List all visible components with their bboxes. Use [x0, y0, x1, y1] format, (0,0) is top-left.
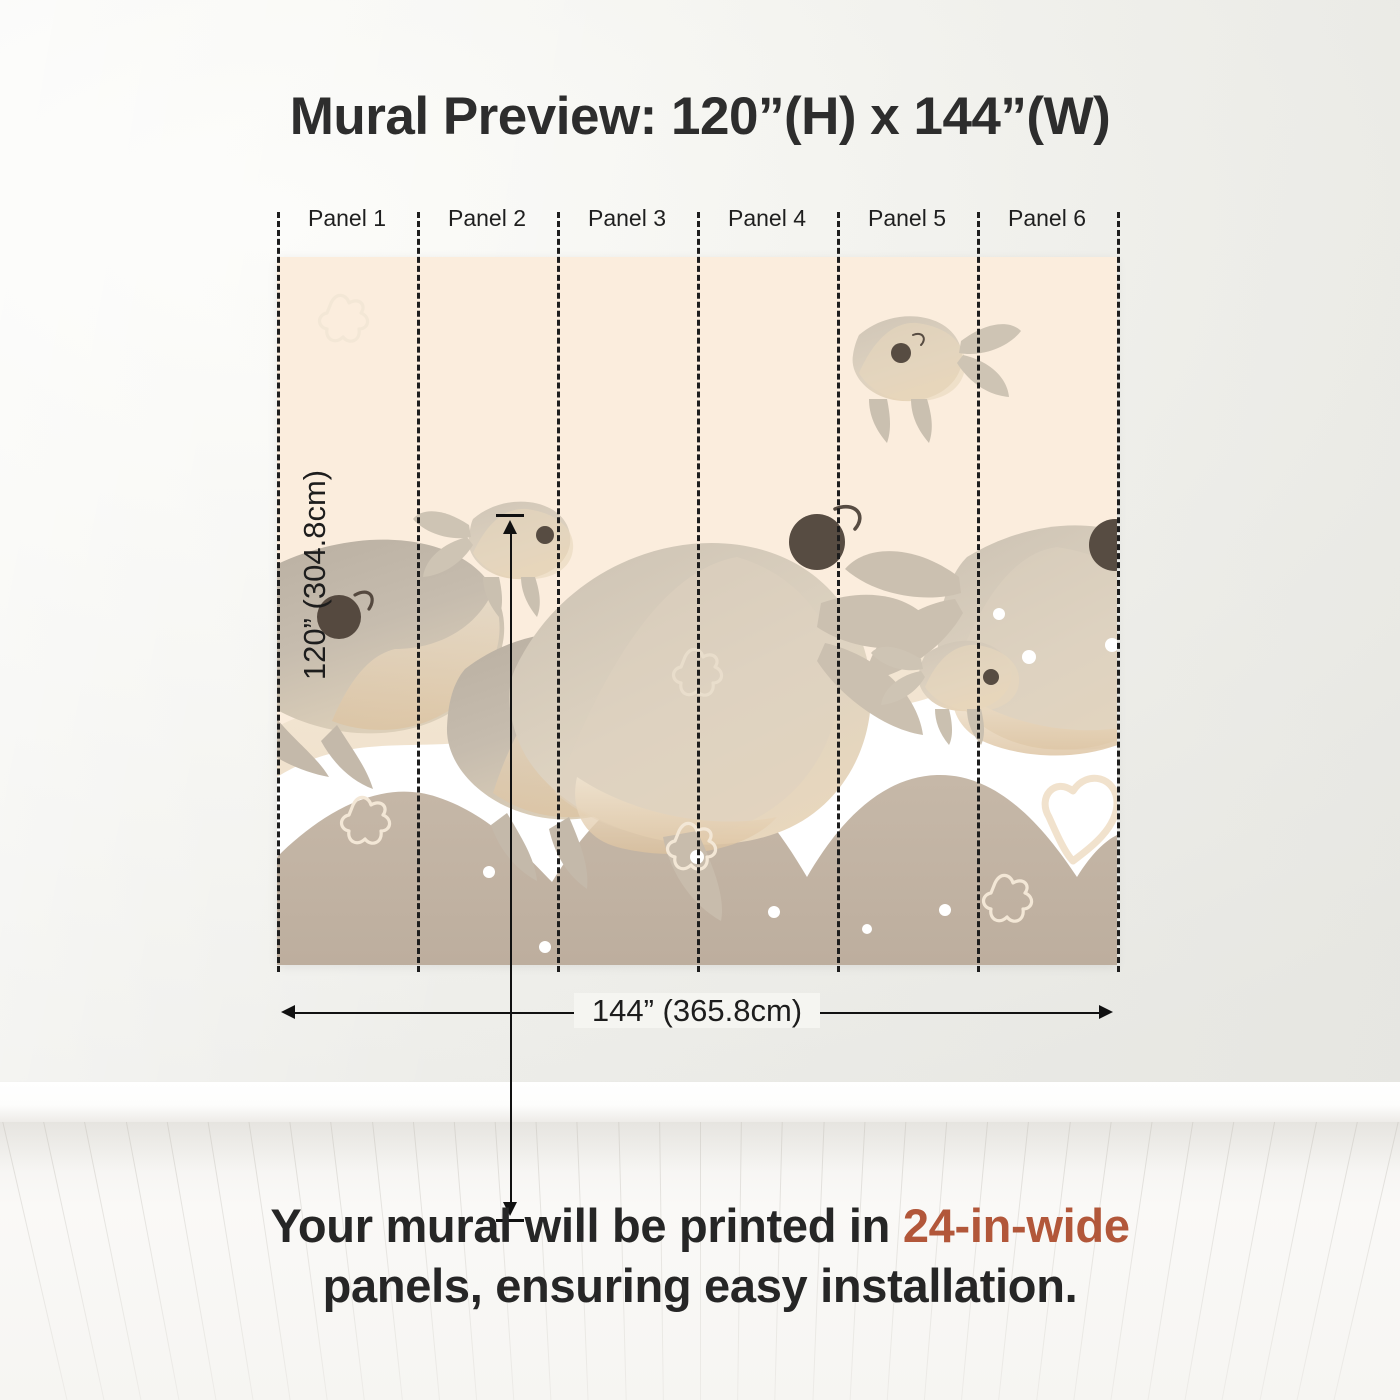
- panel-divider-1: [417, 212, 420, 972]
- height-dimension-label: 120” (304.8cm): [297, 425, 333, 725]
- panel-label-5: Panel 5: [837, 205, 977, 232]
- height-dimension-arrow: [509, 514, 513, 1222]
- caption-accent: 24-in-wide: [903, 1199, 1130, 1252]
- panel-label-2: Panel 2: [417, 205, 557, 232]
- mural-preview-area: Panel 1 Panel 2 Panel 3 Panel 4 Panel 5 …: [277, 257, 1117, 965]
- panel-divider-3: [697, 212, 700, 972]
- width-dimension-label: 144” (365.8cm): [277, 993, 1117, 1029]
- panel-label-1: Panel 1: [277, 205, 417, 232]
- floor-plank: [1333, 1122, 1400, 1400]
- panel-divider-0: [277, 212, 280, 972]
- panel-label-4: Panel 4: [697, 205, 837, 232]
- panel-divider-4: [837, 212, 840, 972]
- floor-plank: [1295, 1122, 1360, 1400]
- caption-line2: panels, ensuring easy installation.: [323, 1259, 1078, 1312]
- panel-divider-5: [977, 212, 980, 972]
- baseboard: [0, 1082, 1400, 1124]
- floor-plank: [0, 1122, 68, 1400]
- panel-label-3: Panel 3: [557, 205, 697, 232]
- installation-caption: Your mural will be printed in 24-in-wide…: [100, 1196, 1300, 1316]
- panel-divider-6: [1117, 212, 1120, 972]
- panel-label-6: Panel 6: [977, 205, 1117, 232]
- caption-line1-before: Your mural will be printed in: [270, 1199, 903, 1252]
- floor-plank: [41, 1122, 106, 1400]
- page-title: Mural Preview: 120”(H) x 144”(W): [0, 86, 1400, 147]
- panel-divider-2: [557, 212, 560, 972]
- width-dimension-text: 144” (365.8cm): [574, 993, 820, 1028]
